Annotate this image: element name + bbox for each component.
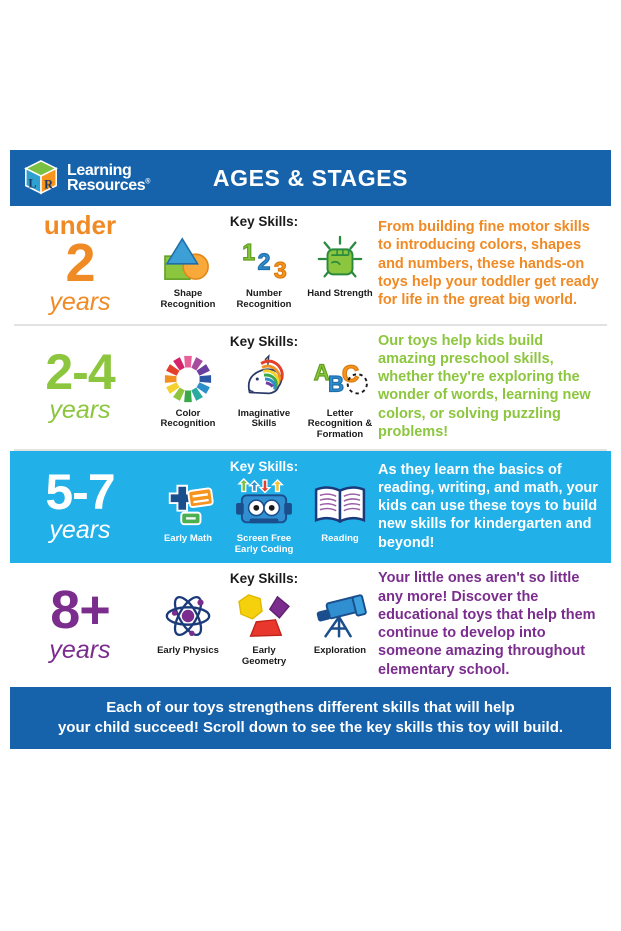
svg-text:C: C (342, 360, 359, 387)
age-number: 5-7 (45, 469, 114, 517)
age-row-under-2: under 2 years Key Skills: (10, 206, 611, 324)
skills-group-under-2: Key Skills: Shape (150, 212, 378, 316)
atom-icon (162, 589, 214, 643)
skill-early-physics: Early Physics (150, 589, 226, 657)
skill-reading: Reading (302, 477, 378, 545)
skill-label: Number Recognition (237, 289, 292, 310)
skill-number-recognition: 1 2 3 Number Recognition (226, 232, 302, 310)
age-label-5-7: 5-7 years (10, 457, 150, 555)
skill-letter-recognition: A B C Letter Recognition & Formation (302, 352, 378, 441)
age-number: 2 (65, 238, 94, 289)
skill-hand-strength: Hand Strength (302, 232, 378, 300)
age-label-8-plus: 8+ years (10, 569, 150, 679)
fist-hand-strength-icon (313, 232, 367, 286)
skill-label: Screen Free Early Coding (235, 534, 294, 555)
skill-label: Shape Recognition (161, 289, 216, 310)
skill-label: Exploration (314, 646, 366, 657)
skill-early-coding: Screen Free Early Coding (226, 477, 302, 555)
skills-group-5-7: Key Skills: (150, 457, 378, 555)
header-bar: L R Learning Resources® AGES & STAGES (10, 150, 611, 206)
age-number: 8+ (50, 585, 110, 636)
skills-group-2-4: Key Skills: (150, 332, 378, 442)
unicorn-icon (236, 352, 292, 406)
skill-label: Hand Strength (307, 289, 372, 300)
description-5-7: As they learn the basics of reading, wri… (378, 457, 611, 555)
skill-label: Early Math (164, 534, 212, 545)
skill-label: Early Geometry (242, 646, 286, 667)
description-text: As they learn the basics of reading, wri… (378, 461, 601, 552)
skill-exploration: Exploration (302, 589, 378, 657)
infographic-canvas: L R Learning Resources® AGES & STAGES un… (0, 0, 621, 931)
color-wheel-icon (163, 352, 213, 406)
key-skills-heading: Key Skills: (230, 334, 298, 349)
footer-line-1: Each of our toys strengthens different s… (106, 699, 514, 716)
age-row-2-4: 2-4 years Key Skills: (10, 326, 611, 450)
open-book-icon (312, 477, 368, 531)
age-row-8-plus: 8+ years Key Skills: (10, 563, 611, 687)
age-unit: years (49, 637, 110, 663)
description-text: Our toys help kids build amazing prescho… (378, 332, 601, 442)
svg-text:2: 2 (258, 249, 271, 275)
ages-and-stages-sheet: L R Learning Resources® AGES & STAGES un… (10, 150, 611, 749)
age-label-under-2: under 2 years (10, 212, 150, 316)
skill-label: Letter Recognition & Formation (308, 409, 372, 441)
age-label-2-4: 2-4 years (10, 332, 150, 442)
description-text: Your little ones aren't so little any mo… (378, 569, 601, 679)
skill-shape-recognition: Shape Recognition (150, 232, 226, 310)
age-row-5-7: 5-7 years Key Skills: (10, 451, 611, 563)
skill-label: Reading (321, 534, 358, 545)
footer-line-2: your child succeed! Scroll down to see t… (58, 719, 563, 736)
shapes-icon (161, 232, 215, 286)
skill-early-math: Early Math (150, 477, 226, 545)
key-skills-heading: Key Skills: (230, 459, 298, 474)
skill-color-recognition: Color Recognition (150, 352, 226, 430)
skill-label: Color Recognition (161, 409, 216, 430)
description-2-4: Our toys help kids build amazing prescho… (378, 332, 611, 442)
footer-banner: Each of our toys strengthens different s… (10, 687, 611, 749)
svg-text:1: 1 (242, 239, 255, 265)
geometry-shapes-icon (235, 589, 293, 643)
age-unit: years (49, 517, 110, 543)
description-8-plus: Your little ones aren't so little any mo… (378, 569, 611, 679)
age-number: 2-4 (45, 349, 114, 397)
numbers-123-icon: 1 2 3 (237, 232, 291, 286)
coding-robot-icon (234, 477, 294, 531)
skill-label: Early Physics (157, 646, 219, 657)
page-title: AGES & STAGES (10, 165, 611, 192)
key-skills-heading: Key Skills: (230, 214, 298, 229)
skill-early-geometry: Early Geometry (226, 589, 302, 667)
abc-letters-icon: A B C (310, 352, 370, 406)
skill-label: Imaginative Skills (238, 409, 290, 430)
skill-imaginative: Imaginative Skills (226, 352, 302, 430)
age-unit: years (49, 397, 110, 423)
age-unit: years (49, 289, 110, 315)
svg-text:3: 3 (274, 257, 287, 283)
description-text: From building fine motor skills to intro… (378, 218, 601, 309)
key-skills-heading: Key Skills: (230, 571, 298, 586)
telescope-icon (312, 589, 368, 643)
math-symbols-icon (160, 477, 216, 531)
skills-group-8-plus: Key Skills: (150, 569, 378, 679)
description-under-2: From building fine motor skills to intro… (378, 212, 611, 316)
